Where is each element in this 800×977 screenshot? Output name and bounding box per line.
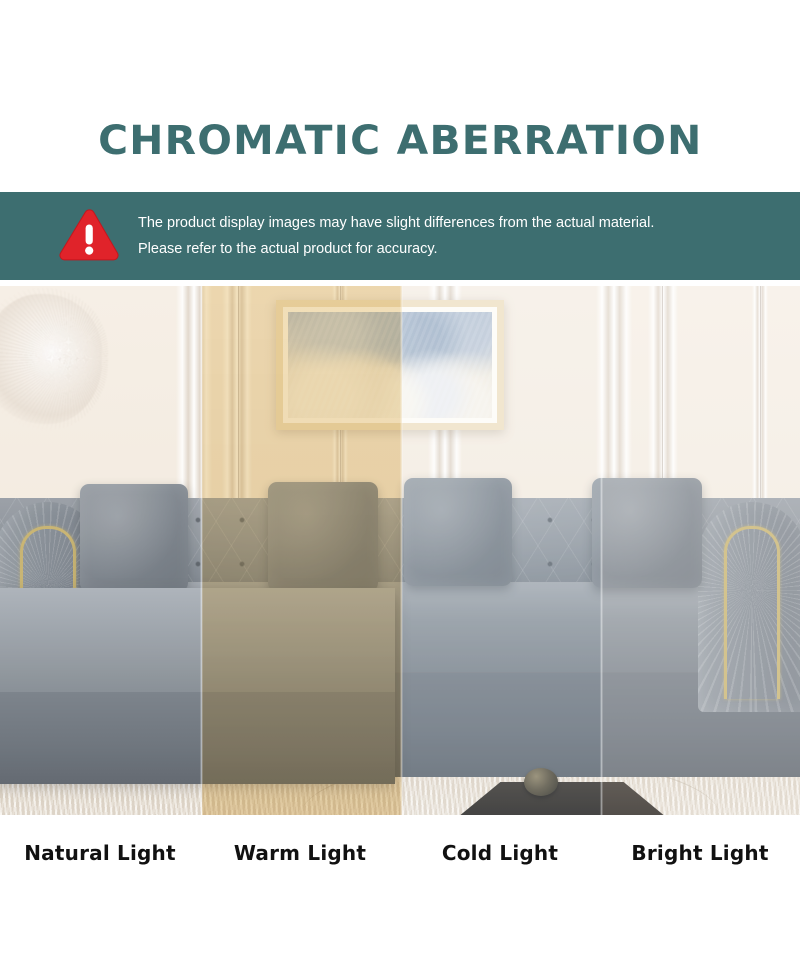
sofa-arm-right	[698, 502, 800, 712]
throw-pillow	[268, 482, 378, 592]
artwork-canvas	[288, 312, 492, 418]
decorative-sphere	[524, 768, 558, 796]
disclaimer-text: The product display images may have slig…	[138, 210, 654, 262]
living-room-scene	[0, 286, 800, 815]
product-comparison-photo	[0, 286, 800, 815]
label-bright-light: Bright Light	[600, 832, 800, 874]
label-cold-light: Cold Light	[400, 832, 600, 874]
page-title: CHROMATIC ABERRATION	[98, 118, 702, 164]
throw-pillow	[404, 478, 512, 586]
sofa-chaise-front-panel	[0, 692, 395, 784]
disclaimer-banner: The product display images may have slig…	[0, 192, 800, 280]
warning-triangle-icon	[58, 208, 120, 264]
disclaimer-line-2: Please refer to the actual product for a…	[138, 236, 654, 262]
artwork-mat	[283, 307, 497, 423]
throw-pillow	[80, 484, 188, 592]
pampas-grass-decor	[0, 294, 102, 424]
page-title-container: CHROMATIC ABERRATION	[0, 108, 800, 174]
gold-arch-trim	[724, 526, 780, 699]
throw-pillow	[592, 478, 702, 588]
framed-hydrangea-artwork	[276, 300, 504, 430]
disclaimer-line-1: The product display images may have slig…	[138, 210, 654, 236]
lighting-condition-labels: Natural Light Warm Light Cold Light Brig…	[0, 832, 800, 874]
label-warm-light: Warm Light	[200, 832, 400, 874]
label-natural-light: Natural Light	[0, 832, 200, 874]
